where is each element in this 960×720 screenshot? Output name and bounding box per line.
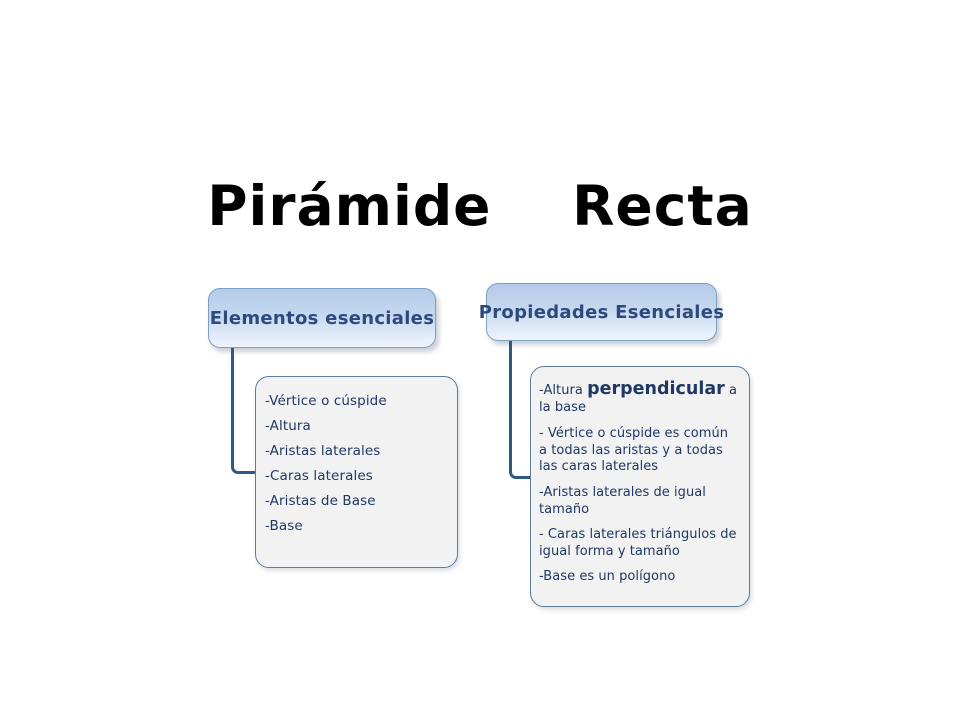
list-item: - Caras laterales triángulos de igual fo… (531, 527, 749, 560)
list-item: -Aristas laterales (256, 443, 457, 459)
list-item: -Altura (256, 418, 457, 434)
branch-header-label: Elementos esenciales (210, 308, 434, 329)
bullet-list-elementos: -Vértice o cúspide -Altura -Aristas late… (256, 393, 457, 534)
branch-header-label: Propiedades Esenciales (479, 302, 725, 323)
page-title: Pirámide Recta (0, 176, 960, 237)
branch-header-propiedades-esenciales[interactable]: Propiedades Esenciales (486, 283, 717, 341)
list-item: -Altura perpendicular a la base (531, 378, 749, 417)
list-item: -Caras laterales (256, 468, 457, 484)
branch-header-elementos-esenciales[interactable]: Elementos esenciales (208, 288, 436, 348)
content-box-propiedades-esenciales[interactable]: -Altura perpendicular a la base - Vértic… (530, 366, 750, 607)
list-item: -Vértice o cúspide (256, 393, 457, 409)
list-item: -Base (256, 518, 457, 534)
list-item: - Vértice o cúspide es común a todas las… (531, 426, 749, 476)
list-item: -Aristas de Base (256, 493, 457, 509)
list-item: -Aristas laterales de igual tamaño (531, 485, 749, 518)
list-item: -Base es un polígono (531, 569, 749, 586)
bullet-list-propiedades: -Altura perpendicular a la base - Vértic… (531, 378, 749, 586)
content-box-elementos-esenciales[interactable]: -Vértice o cúspide -Altura -Aristas late… (255, 376, 458, 568)
list-item-prefix: -Altura (539, 383, 587, 398)
list-item-emphasis: perpendicular (587, 379, 725, 399)
